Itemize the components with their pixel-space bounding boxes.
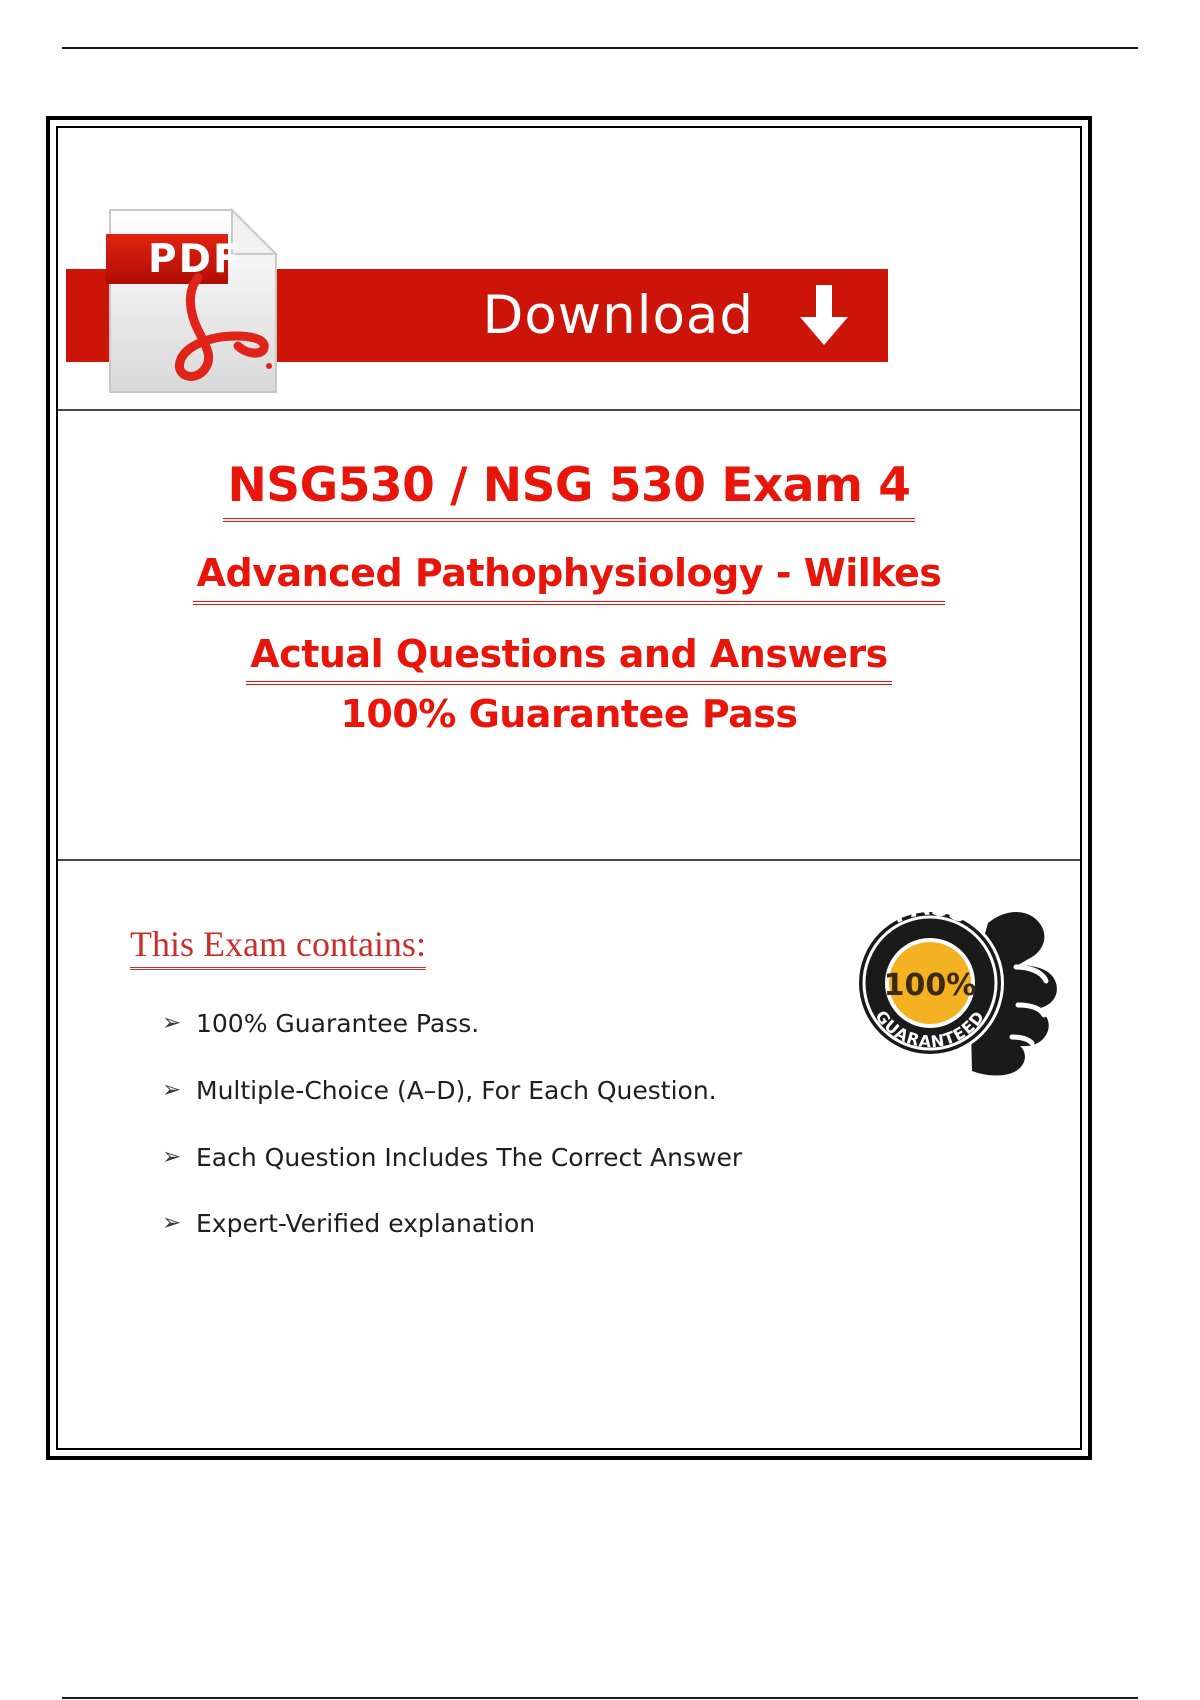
exam-title-line-3: Actual Questions and Answers	[246, 633, 891, 686]
download-button-label: Download	[483, 285, 754, 346]
list-item-label: 100% Guarantee Pass.	[196, 1010, 479, 1039]
list-item: ➢ Expert-Verified explanation	[162, 1210, 1080, 1239]
document-frame: Download	[46, 116, 1092, 1460]
arrow-bullet-icon: ➢	[162, 1210, 196, 1236]
download-banner-section: Download	[58, 128, 1080, 411]
page-header-rule	[62, 47, 1138, 49]
page-footer-rule	[62, 1697, 1138, 1699]
seal-center-text: 100%	[884, 968, 977, 1003]
exam-title-line-4: 100% Guarantee Pass	[336, 693, 801, 742]
list-item: ➢ Each Question Includes The Correct Ans…	[162, 1144, 1080, 1173]
exam-title-line-2: Advanced Pathophysiology - Wilkes	[193, 552, 946, 605]
title-section: NSG530 / NSG 530 Exam 4 Advanced Pathoph…	[58, 411, 1080, 861]
arrow-bullet-icon: ➢	[162, 1144, 196, 1170]
document-frame-inner: Download	[56, 126, 1082, 1450]
list-item-label: Each Question Includes The Correct Answe…	[196, 1144, 742, 1173]
down-arrow-icon	[796, 285, 852, 347]
pdf-file-icon: PDF	[106, 206, 280, 398]
contains-heading: This Exam contains:	[130, 923, 426, 970]
exam-title-line-1: NSG530 / NSG 530 Exam 4	[223, 459, 914, 522]
arrow-bullet-icon: ➢	[162, 1010, 196, 1036]
list-item-label: Multiple-Choice (A–D), For Each Question…	[196, 1077, 717, 1106]
pass-guaranteed-thumbs-up-seal: PASS GUARANTEED 100%	[820, 865, 1070, 1105]
exam-contains-section: This Exam contains: ➢ 100% Guarantee Pas…	[58, 861, 1080, 1450]
list-item-label: Expert-Verified explanation	[196, 1210, 535, 1239]
arrow-bullet-icon: ➢	[162, 1077, 196, 1103]
